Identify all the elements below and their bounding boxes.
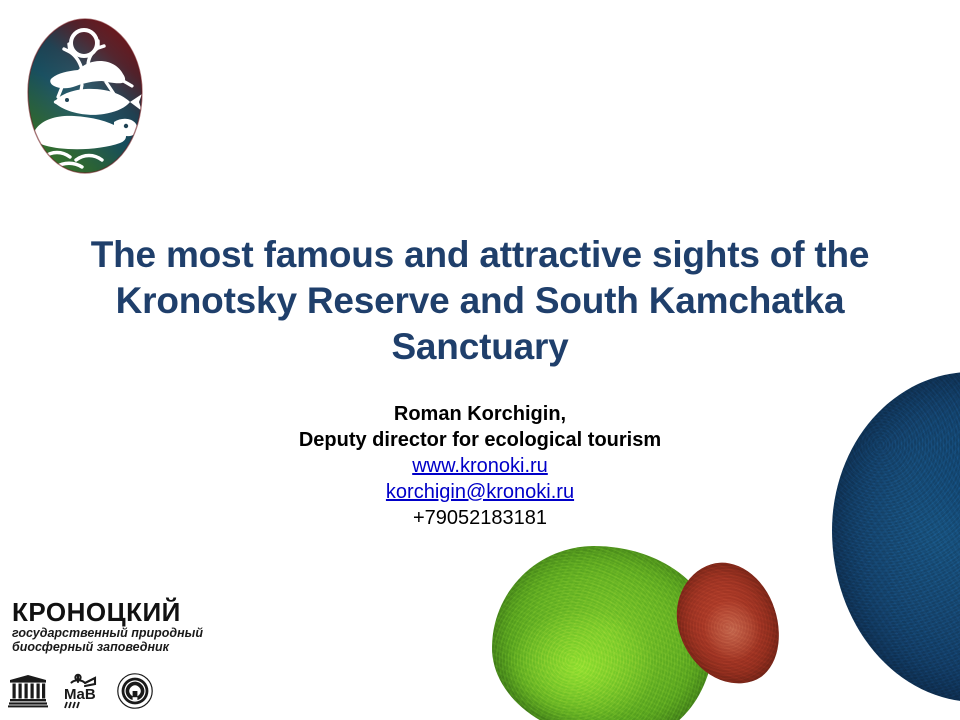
website-link[interactable]: www.kronoki.ru	[180, 453, 780, 479]
phone-number: +79052183181	[180, 505, 780, 531]
kronotsky-reserve-logo	[22, 16, 148, 176]
presenter-role: Deputy director for ecological tourism	[180, 427, 780, 453]
email-link[interactable]: korchigin@kronoki.ru	[180, 479, 780, 505]
mab-icon: MaB	[62, 673, 102, 714]
unesco-temple-icon	[8, 674, 48, 713]
presenter-name: Roman Korchigin,	[180, 401, 780, 427]
title-block: The most famous and attractive sights of…	[48, 232, 912, 370]
wordmark-subtitle-line2: биосферный заповедник	[12, 640, 212, 654]
blue-blob-decoration	[832, 372, 960, 702]
reserve-wordmark: КРОНОЦКИЙ государственный природный биос…	[12, 598, 212, 654]
wordmark-title: КРОНОЦКИЙ	[12, 598, 212, 626]
presenter-contact-block: Roman Korchigin, Deputy director for eco…	[180, 401, 780, 531]
svg-text:MaB: MaB	[64, 686, 96, 703]
world-heritage-icon	[116, 672, 154, 715]
emblem-row: MaB	[8, 672, 154, 715]
wordmark-subtitle-line1: государственный природный	[12, 626, 212, 640]
presentation-slide: The most famous and attractive sights of…	[0, 0, 960, 720]
page-title: The most famous and attractive sights of…	[48, 232, 912, 370]
